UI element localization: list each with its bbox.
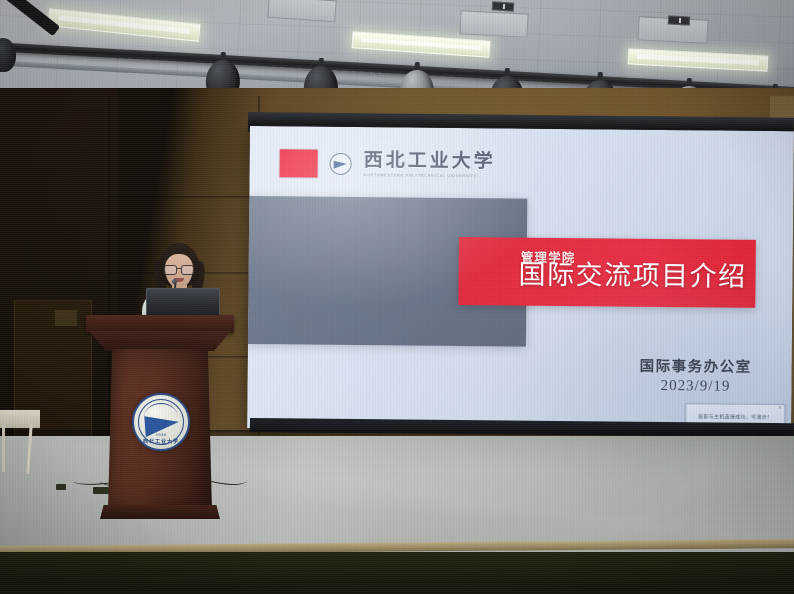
laptop-screen bbox=[146, 288, 220, 317]
lectern-top-surface bbox=[86, 315, 234, 333]
university-name-en: NORTHWESTERN POLYTECHNICAL UNIVERSITY bbox=[364, 173, 496, 178]
floor-plug bbox=[56, 484, 66, 490]
ceiling-vent-2 bbox=[459, 10, 528, 38]
university-seal-emblem: 1938 西北工业大学 bbox=[132, 393, 190, 451]
wall-seam-1 bbox=[108, 196, 258, 198]
lectern: 1938 西北工业大学 bbox=[86, 315, 234, 525]
lectern-shelf bbox=[89, 331, 231, 351]
university-name-cn: 西北工业大学 bbox=[364, 151, 496, 171]
projection-screen[interactable]: 西北工业大学 NORTHWESTERN POLYTECHNICAL UNIVER… bbox=[247, 126, 794, 433]
door-plate-icon bbox=[55, 310, 77, 326]
slide-footer: 国际事务办公室 2023/9/19 bbox=[639, 358, 751, 396]
stage-front-face bbox=[0, 552, 794, 594]
toast-message: 投影与主机连接成功，可演示！ bbox=[686, 413, 784, 421]
ceiling-speaker-2 bbox=[668, 15, 690, 25]
camera-head-icon bbox=[0, 38, 16, 72]
close-icon[interactable]: × bbox=[778, 406, 781, 411]
university-logo-lockup: 西北工业大学 NORTHWESTERN POLYTECHNICAL UNIVER… bbox=[280, 149, 496, 179]
university-seal-icon bbox=[330, 153, 352, 175]
slide-date: 2023/9/19 bbox=[639, 378, 751, 396]
side-table bbox=[0, 410, 40, 428]
microphone-icon bbox=[172, 279, 177, 284]
slide-title-banner: 管理学院 国际交流项目介绍 bbox=[458, 237, 756, 308]
red-square-icon bbox=[280, 149, 318, 177]
glasses-icon bbox=[164, 265, 194, 273]
slide-organization: 国际事务办公室 bbox=[640, 358, 752, 377]
side-table-leg-left bbox=[2, 424, 5, 472]
presentation-slide: 西北工业大学 NORTHWESTERN POLYTECHNICAL UNIVER… bbox=[247, 126, 794, 433]
ceiling-camera bbox=[0, 8, 60, 78]
lecture-hall-photo: 西北工业大学 NORTHWESTERN POLYTECHNICAL UNIVER… bbox=[0, 0, 794, 594]
seal-founding-year: 1938 bbox=[134, 432, 188, 437]
seal-university-name: 西北工业大学 bbox=[134, 438, 188, 445]
slide-main-title: 国际交流项目介绍 bbox=[518, 262, 746, 291]
lectern-base bbox=[100, 505, 220, 519]
ceiling-speaker-1 bbox=[492, 1, 515, 12]
